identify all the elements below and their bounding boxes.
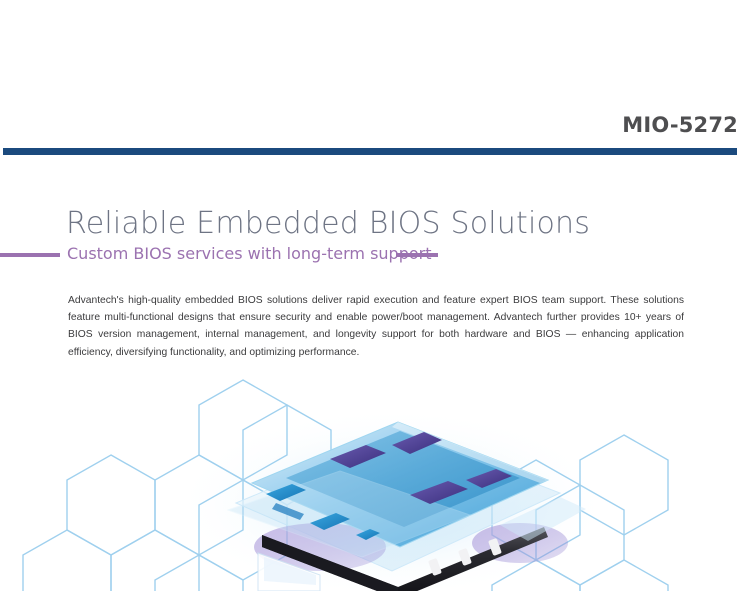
diagram-canvas — [0, 375, 750, 591]
page-title: Reliable Embedded BIOS Solutions — [66, 206, 590, 241]
subtitle-row: Custom BIOS services with long-term supp… — [0, 244, 750, 266]
body-paragraph: Advantech's high-quality embedded BIOS s… — [68, 292, 684, 361]
header-rule — [3, 148, 737, 155]
page-subtitle: Custom BIOS services with long-term supp… — [67, 244, 432, 263]
bios-diagram: Power Management Fast Boot BIOS Suite St… — [0, 375, 750, 591]
model-code: MIO-5272 — [622, 113, 738, 137]
subtitle-rule-right — [396, 253, 438, 257]
page-header: MIO-5272 — [0, 0, 750, 160]
subtitle-rule-left — [0, 253, 60, 257]
